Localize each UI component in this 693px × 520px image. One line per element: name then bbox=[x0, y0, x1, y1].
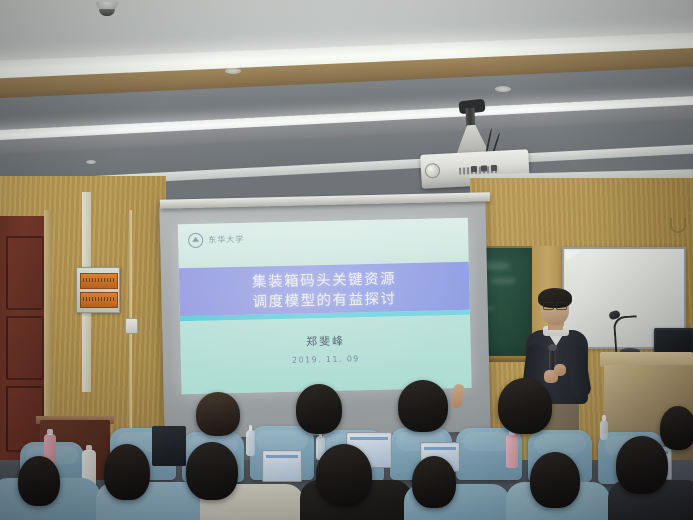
audience-head bbox=[18, 456, 60, 506]
audience-head bbox=[616, 436, 668, 494]
monitor bbox=[152, 426, 186, 466]
smoke-detector-icon bbox=[96, 2, 118, 11]
audience-head bbox=[412, 456, 456, 508]
university-logo: 东华大学 bbox=[188, 232, 244, 248]
ceiling-fixture-icon bbox=[495, 86, 511, 92]
audience-head bbox=[316, 444, 372, 506]
audience-head bbox=[660, 406, 693, 450]
audience-head bbox=[498, 378, 552, 434]
audience-head bbox=[104, 444, 150, 500]
university-name: 东华大学 bbox=[208, 234, 244, 246]
glasses-icon bbox=[543, 302, 567, 308]
audience-head bbox=[196, 392, 240, 436]
audience-head bbox=[186, 442, 238, 500]
lecture-hall-photo: 东华大学 集装箱码头关键资源 调度模型的有益探讨 郑斐峰 2019. 11. 0… bbox=[0, 0, 693, 520]
audience-head bbox=[398, 380, 448, 432]
light-switch[interactable] bbox=[125, 318, 138, 334]
speaker-hand-right bbox=[554, 364, 566, 376]
audience-area bbox=[0, 398, 693, 520]
podium-microphone-gooseneck bbox=[613, 315, 639, 353]
slide-title: 集装箱码头关键资源 调度模型的有益探讨 bbox=[179, 268, 470, 315]
audience-head bbox=[530, 452, 580, 508]
control-panel-box[interactable] bbox=[76, 267, 120, 313]
thermos bbox=[506, 434, 518, 468]
ceiling-fixture-icon bbox=[86, 160, 96, 164]
university-crest-icon bbox=[188, 233, 203, 248]
water-bottle bbox=[600, 420, 608, 440]
laptop bbox=[262, 450, 302, 482]
whiteboard-glare bbox=[566, 251, 582, 261]
ceiling-fixture-icon bbox=[225, 68, 241, 74]
water-bottle bbox=[246, 430, 255, 456]
audience-head bbox=[296, 384, 342, 434]
presentation-slide: 东华大学 集装箱码头关键资源 调度模型的有益探讨 郑斐峰 2019. 11. 0… bbox=[178, 218, 472, 395]
